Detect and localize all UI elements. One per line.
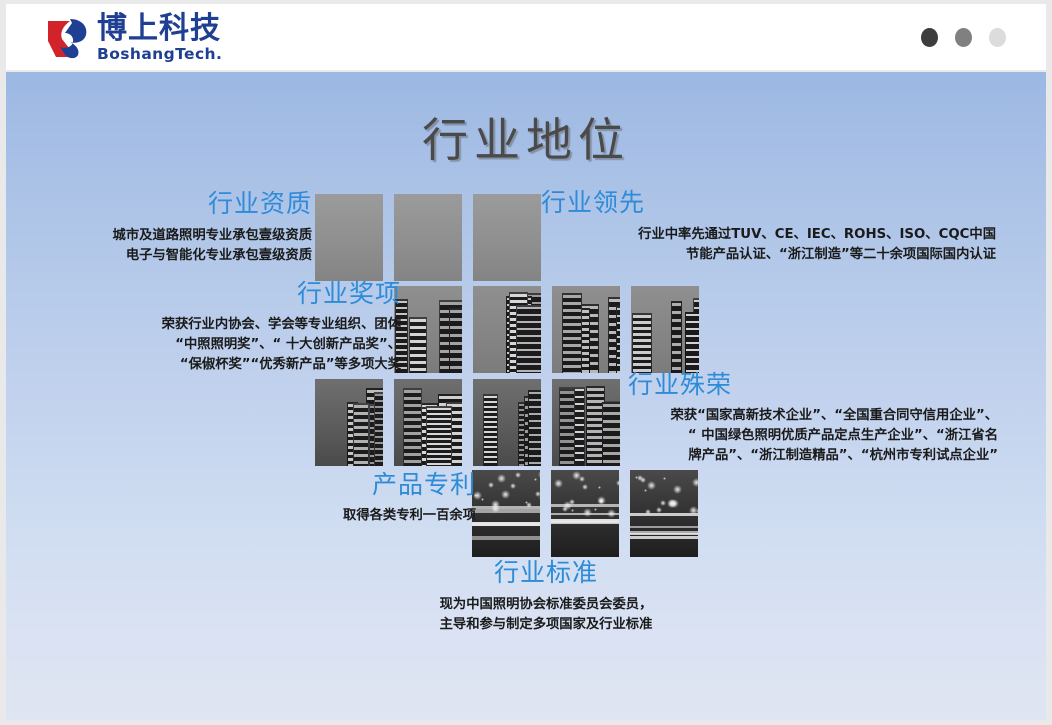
mosaic-tile	[394, 286, 462, 373]
block-qualification-line-2: 电子与智能化专业承包壹级资质	[46, 246, 312, 266]
mosaic-tile	[473, 194, 541, 281]
window-controls[interactable]	[921, 4, 1006, 70]
mosaic-tile	[630, 470, 698, 557]
block-standards: 行业标准 现为中国照明协会标准委员会委员， 主导和参与制定多项国家及行业标准	[386, 559, 706, 635]
logo-english-name: BoshangTech.	[97, 47, 222, 63]
block-awards-line-1: 荣获行业内协会、学会等专业组织、团体	[86, 315, 401, 335]
window-dot-light[interactable]	[989, 28, 1006, 47]
boshang-logo-icon	[46, 17, 90, 60]
mosaic-tile	[551, 470, 619, 557]
mosaic-tile	[472, 470, 540, 557]
logo-wordmark: 博上科技 BoshangTech.	[97, 14, 222, 62]
mosaic-tile	[315, 379, 383, 466]
block-standards-heading: 行业标准	[386, 559, 706, 587]
block-patents-line-1: 取得各类专利一百余项	[226, 506, 476, 526]
block-qualification-heading: 行业资质	[46, 190, 312, 218]
mosaic-tile	[473, 286, 541, 373]
block-leading-line-1: 行业中率先通过TUV、CE、IEC、ROHS、ISO、CQC中国	[541, 225, 996, 245]
block-leading-heading: 行业领先	[541, 189, 996, 217]
mosaic-tile	[473, 379, 541, 466]
block-standards-line-2: 主导和参与制定多项国家及行业标准	[386, 615, 706, 635]
block-honors-heading: 行业殊荣	[591, 371, 998, 399]
logo-chinese-name: 博上科技	[97, 14, 222, 45]
block-honors-line-3: 牌产品”、“浙江制造精品”、“杭州市专利试点企业”	[591, 446, 998, 466]
block-patents: 产品专利 取得各类专利一百余项	[226, 471, 476, 526]
block-qualification: 行业资质 城市及道路照明专业承包壹级资质 电子与智能化专业承包壹级资质	[46, 190, 312, 266]
block-awards-line-2: “中照照明奖”、“ 十大创新产品奖”、	[86, 335, 401, 355]
block-awards: 行业奖项 荣获行业内协会、学会等专业组织、团体 “中照照明奖”、“ 十大创新产品…	[86, 280, 401, 376]
block-awards-heading: 行业奖项	[86, 280, 401, 308]
slide-canvas: 博上科技 BoshangTech. 行业地位 行业资质 城市及道路照明专业承包壹…	[0, 0, 1052, 725]
mosaic-tile	[394, 379, 462, 466]
block-qualification-line-1: 城市及道路照明专业承包壹级资质	[46, 226, 312, 246]
window-dot-dark[interactable]	[921, 28, 938, 47]
block-honors-line-1: 荣获“国家高新技术企业”、“全国重合同守信用企业”、	[591, 406, 998, 426]
block-standards-line-1: 现为中国照明协会标准委员会委员，	[386, 595, 706, 615]
block-honors: 行业殊荣 荣获“国家高新技术企业”、“全国重合同守信用企业”、 “ 中国绿色照明…	[591, 371, 998, 467]
app-header: 博上科技 BoshangTech.	[6, 4, 1046, 70]
mosaic-tile	[631, 286, 699, 373]
mosaic-tile	[315, 194, 383, 281]
block-honors-line-2: “ 中国绿色照明优质产品定点生产企业”、“浙江省名	[591, 426, 998, 446]
block-awards-line-3: “保俶杯奖”“优秀新产品”等多项大奖	[86, 355, 401, 375]
company-logo[interactable]: 博上科技 BoshangTech.	[46, 15, 222, 61]
mosaic-tile	[394, 194, 462, 281]
slide-content: 行业地位 行业资质 城市及道路照明专业承包壹级资质 电子与智能化专业承包壹级资质…	[6, 72, 1046, 720]
block-leading-line-2: 节能产品认证、“浙江制造”等二十余项国际国内认证	[541, 245, 996, 265]
window-dot-mid[interactable]	[955, 28, 972, 47]
block-patents-heading: 产品专利	[226, 471, 476, 499]
mosaic-tile	[552, 286, 620, 373]
block-leading: 行业领先 行业中率先通过TUV、CE、IEC、ROHS、ISO、CQC中国 节能…	[541, 189, 996, 265]
page-title: 行业地位	[6, 104, 1046, 170]
